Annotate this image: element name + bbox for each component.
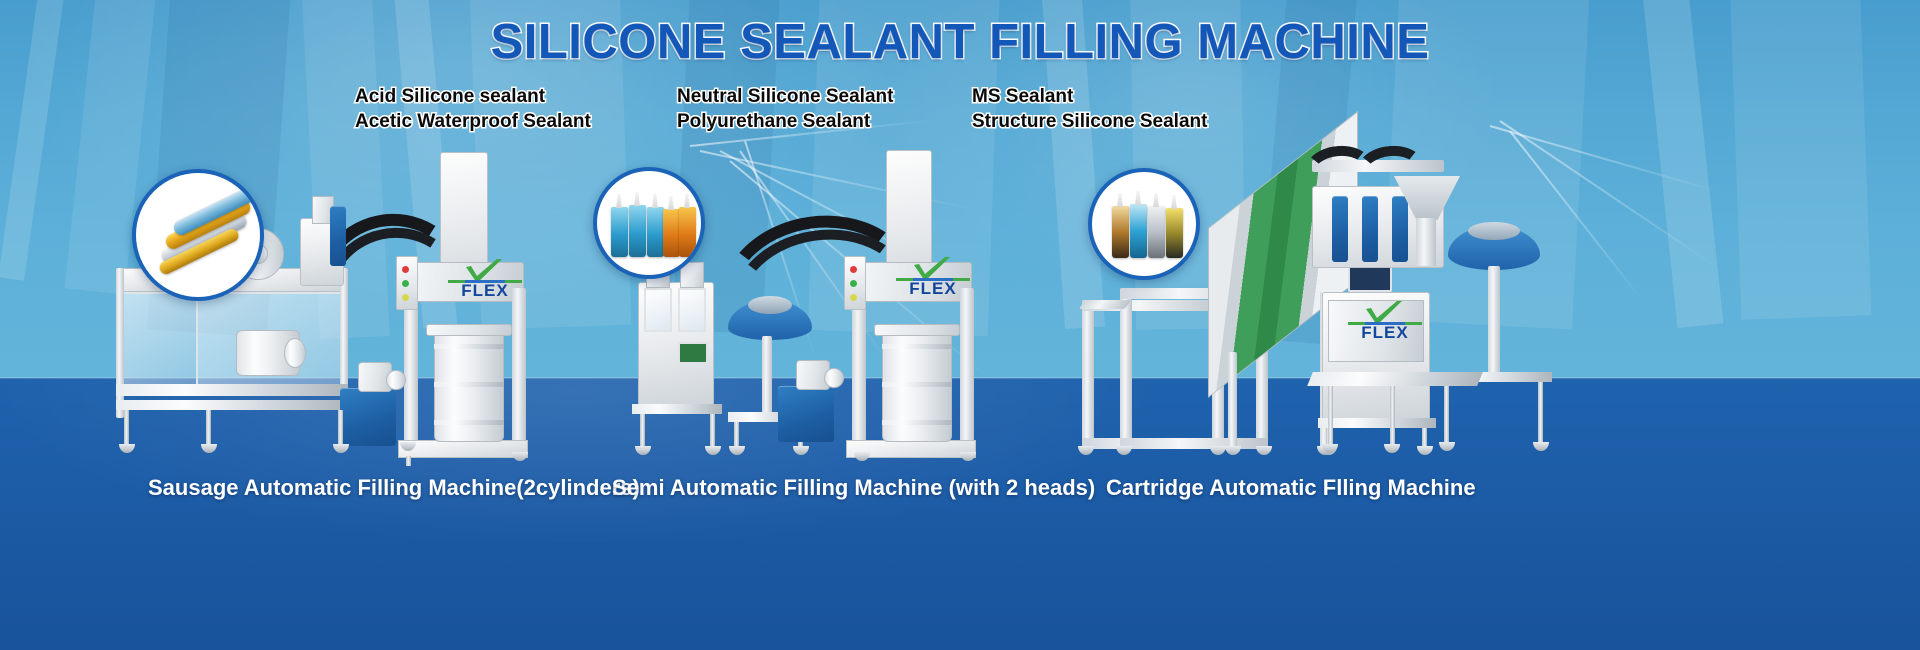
logo-wordmark: FLEX <box>448 282 522 299</box>
sausage-sealant-packs-inset <box>132 169 264 301</box>
flex-logo: FLEX <box>896 256 970 302</box>
machine-caption-semi-automatic: Semi Automatic Filling Machine (with 2 h… <box>612 475 1095 501</box>
machine-caption-cartridge: Cartridge Automatic Flling Machine <box>1106 475 1476 501</box>
logo-wordmark: FLEX <box>896 280 970 297</box>
structural-sealant-cartridges-inset <box>1088 168 1200 280</box>
flex-logo: FLEX <box>1348 300 1422 346</box>
cartridge-sealant-tubes-inset <box>593 167 705 279</box>
machine-sausage-automatic-filling: FLEX <box>0 0 560 470</box>
machine-caption-sausage: Sausage Automatic Filling Machine(2cylin… <box>148 475 640 501</box>
logo-wordmark: FLEX <box>1348 324 1422 341</box>
product-banner: SILICONE SEALANT FILLING MACHINE Acid Si… <box>0 0 1920 650</box>
flex-logo: FLEX <box>448 258 522 304</box>
